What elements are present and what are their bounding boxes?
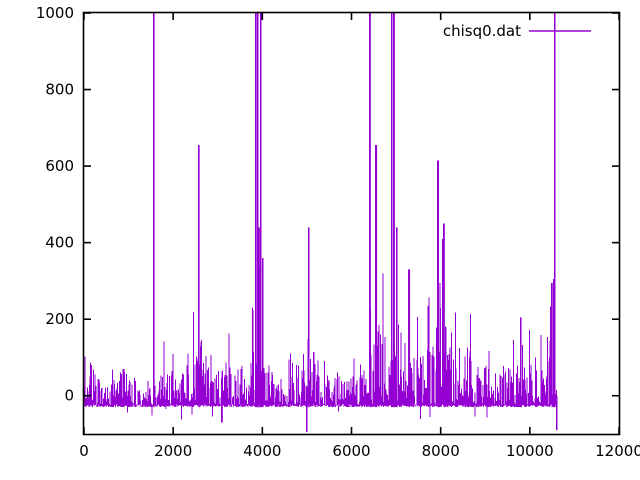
x-tick-label: 2000	[154, 442, 192, 460]
y-tick-label: 600	[45, 157, 74, 175]
x-tick-label: 0	[79, 442, 89, 460]
x-tick-label: 4000	[243, 442, 281, 460]
chart-svg: 02004006008001000 0200040006000800010000…	[0, 0, 640, 480]
y-tick-label: 200	[45, 310, 74, 328]
y-tick-label: 1000	[36, 4, 74, 22]
x-tick-label: 12000	[595, 442, 640, 460]
y-tick-label: 0	[64, 387, 74, 405]
y-tick-label: 400	[45, 234, 74, 252]
x-tick-label: 10000	[506, 442, 554, 460]
chart-background	[0, 0, 640, 480]
legend-label-chisq0: chisq0.dat	[443, 22, 521, 40]
gnuplot-chart-canvas: 02004006008001000 0200040006000800010000…	[0, 0, 640, 480]
x-tick-label: 6000	[332, 442, 370, 460]
y-tick-label: 800	[45, 81, 74, 99]
x-tick-label: 8000	[422, 442, 460, 460]
